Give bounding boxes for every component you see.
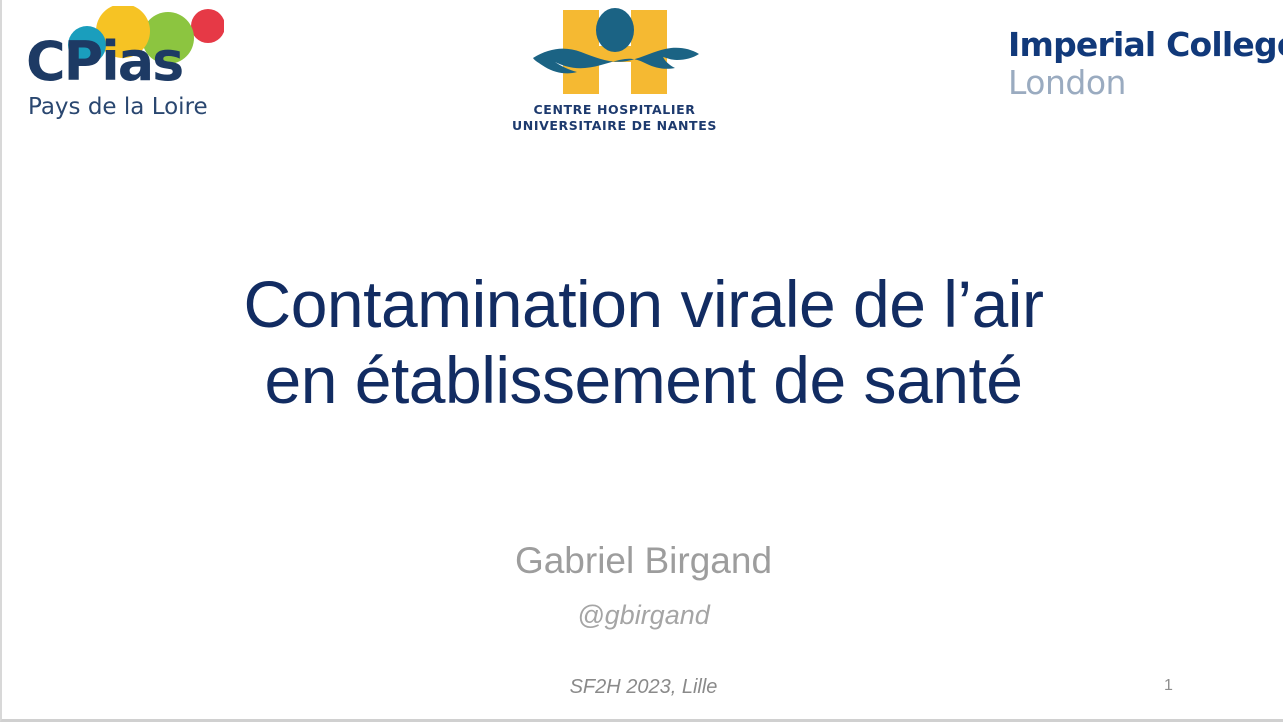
london-text: London [1008,64,1270,102]
title-line-1: Contamination virale de l’air [62,266,1225,342]
chu-nantes-mark-graphic [525,4,705,100]
logo-band: CPias Pays de la Loire CENTRE HOSPITALIE… [2,0,1283,145]
presentation-slide: CPias Pays de la Loire CENTRE HOSPITALIE… [0,0,1283,722]
cpias-subtitle: Pays de la Loire [28,94,238,120]
author-social-handle: @gbirgand [62,596,1225,634]
author-block: Gabriel Birgand @gbirgand [62,538,1225,634]
chu-nantes-logo: CENTRE HOSPITALIER UNIVERSITAIRE DE NANT… [507,4,722,136]
chu-nantes-caption: CENTRE HOSPITALIER UNIVERSITAIRE DE NANT… [507,102,722,133]
author-name: Gabriel Birgand [62,538,1225,584]
title-line-2: en établissement de santé [62,342,1225,418]
chu-caption-line2: UNIVERSITAIRE DE NANTES [507,118,722,134]
imperial-college-london-logo: Imperial College London [1008,26,1270,108]
page-number: 1 [1164,677,1204,695]
head-circle [596,8,634,52]
imperial-college-text: Imperial College [1008,26,1270,64]
slide-title: Contamination virale de l’air en établis… [62,266,1225,418]
cpias-wordmark-ias: ias [101,30,182,93]
event-label: SF2H 2023, Lille [62,676,1225,699]
cpias-logo: CPias Pays de la Loire [24,6,224,126]
cpias-wordmark-cp: CP [26,30,101,93]
chu-caption-line1: CENTRE HOSPITALIER [507,102,722,118]
cpias-wordmark: CPias [26,34,226,90]
